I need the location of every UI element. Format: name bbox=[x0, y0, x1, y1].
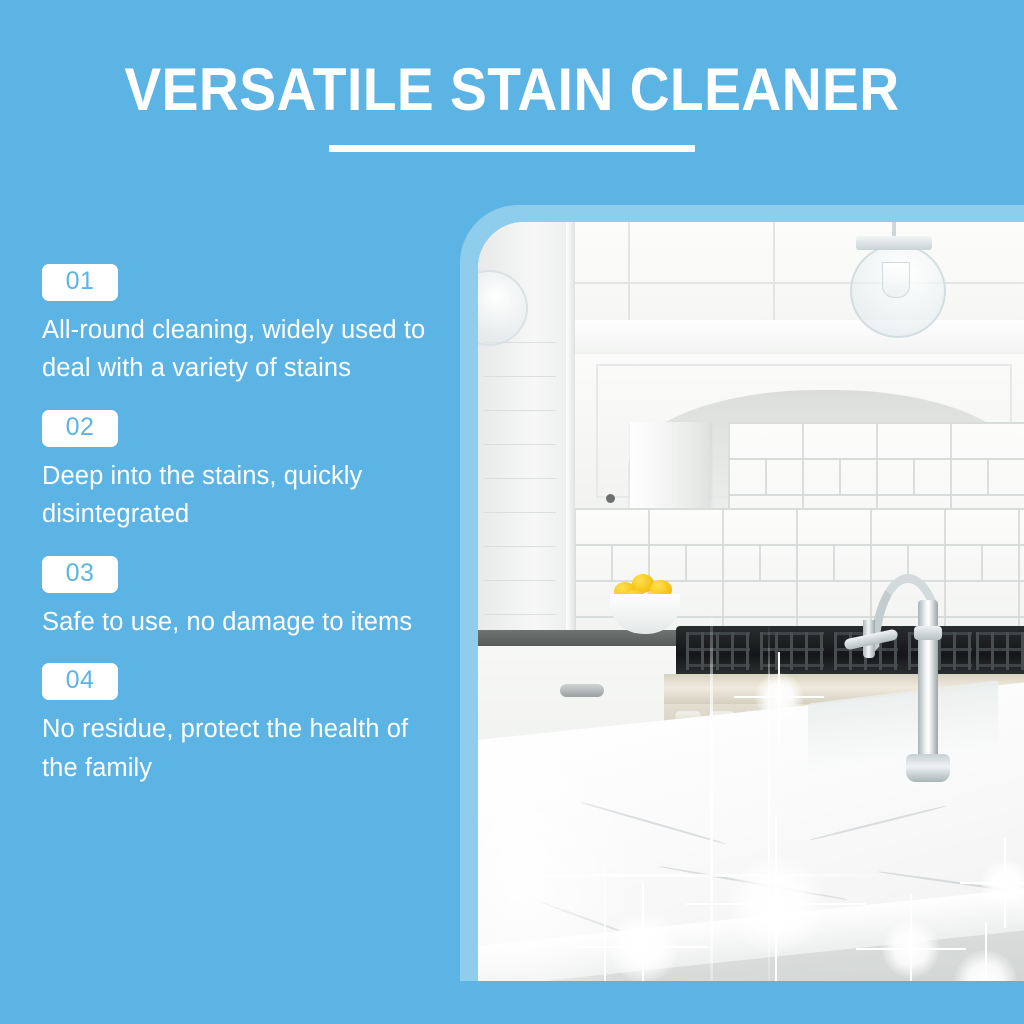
burner-grate bbox=[976, 632, 1024, 670]
surface-glow bbox=[478, 762, 638, 981]
feature-number-badge: 01 bbox=[42, 264, 118, 301]
title-underline-rule bbox=[329, 145, 695, 152]
shiplap-lines bbox=[484, 342, 556, 672]
header: VERSATILE STAIN CLEANER bbox=[0, 58, 1024, 152]
shine-streak bbox=[604, 834, 606, 981]
list-item: 01 All-round cleaning, widely used to de… bbox=[42, 264, 442, 388]
cabinet-knob bbox=[606, 494, 615, 503]
list-item: 04 No residue, protect the health of the… bbox=[42, 663, 442, 787]
upper-cabinet-panel bbox=[574, 222, 1024, 334]
list-item: 02 Deep into the stains, quickly disinte… bbox=[42, 410, 442, 534]
light-bulb bbox=[882, 262, 910, 298]
shine-streak bbox=[478, 874, 898, 877]
feature-list: 01 All-round cleaning, widely used to de… bbox=[42, 264, 442, 787]
shine-streak bbox=[710, 602, 713, 981]
feature-description: No residue, protect the health of the fa… bbox=[42, 710, 432, 788]
feature-description: Deep into the stains, quickly disintegra… bbox=[42, 457, 432, 535]
feature-description: All-round cleaning, widely used to deal … bbox=[42, 311, 432, 389]
cabinet-seam bbox=[773, 222, 775, 332]
faucet-collar bbox=[914, 626, 942, 640]
page-title: VERSATILE STAIN CLEANER bbox=[41, 58, 983, 121]
cabinet-pull-handle bbox=[560, 684, 604, 697]
cabinet-seam bbox=[628, 222, 630, 332]
feature-number-badge: 04 bbox=[42, 663, 118, 700]
product-infographic-poster: VERSATILE STAIN CLEANER 01 All-round cle… bbox=[0, 0, 1024, 1024]
feature-number-badge: 03 bbox=[42, 556, 118, 593]
feature-number-badge: 02 bbox=[42, 410, 118, 447]
list-item: 03 Safe to use, no damage to items bbox=[42, 556, 442, 641]
shine-streak bbox=[768, 622, 770, 981]
kitchen-photo bbox=[478, 222, 1024, 981]
pendant-fitter bbox=[856, 236, 932, 250]
feature-description: Safe to use, no damage to items bbox=[42, 603, 432, 642]
tile-offset-row bbox=[765, 458, 1024, 494]
burner-grate bbox=[686, 632, 750, 670]
tile-offset-row bbox=[611, 544, 1024, 580]
kitchen-scene bbox=[478, 222, 1024, 981]
cabinet-seam bbox=[574, 282, 1024, 284]
faucet-base bbox=[906, 754, 950, 782]
